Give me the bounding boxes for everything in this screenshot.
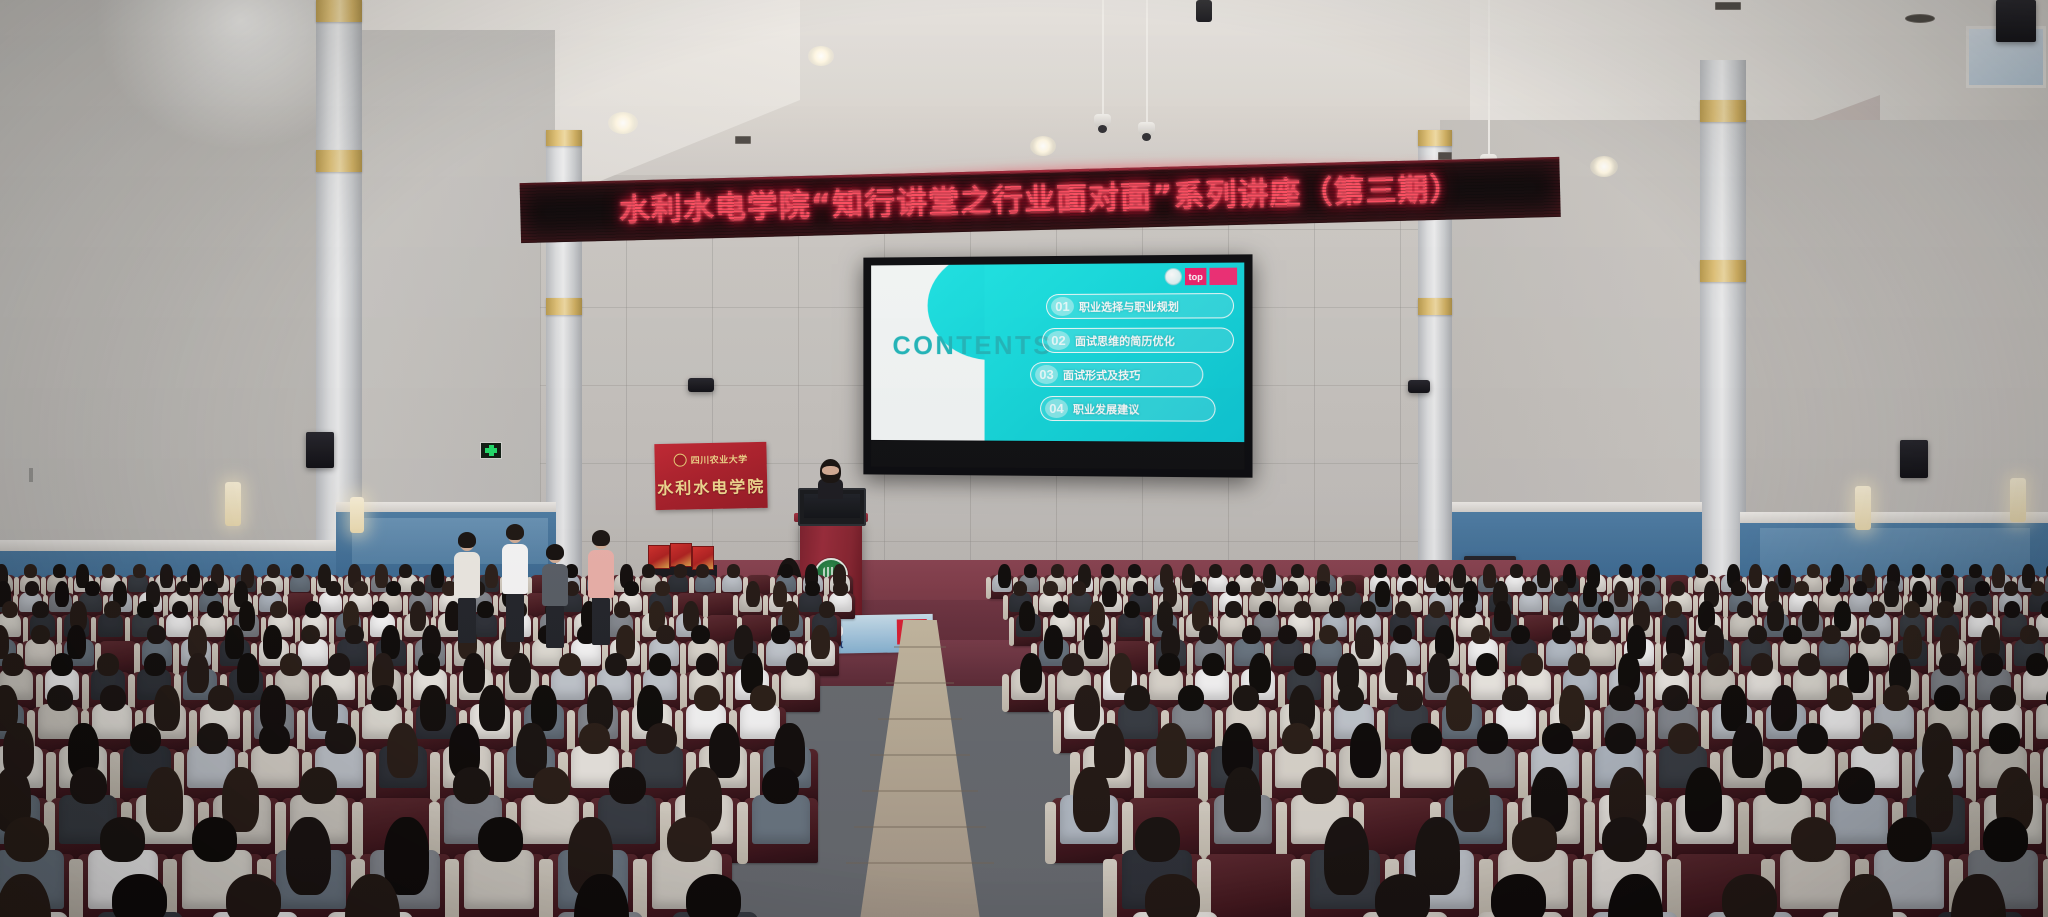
- audience-member-head: [1510, 564, 1523, 577]
- audience-member-head: [146, 767, 183, 832]
- aisle-step-edge: [862, 790, 978, 792]
- audience-member-head: [998, 564, 1011, 587]
- audience-member-head: [237, 653, 259, 693]
- audience-member-head: [1827, 685, 1853, 711]
- audience-member-head: [160, 564, 173, 587]
- audience-member-head: [1178, 685, 1204, 711]
- flag-university-name: 四川农业大学: [691, 452, 748, 466]
- brand-circle-logo-icon: [1165, 268, 1182, 285]
- audience-member-head: [696, 653, 718, 676]
- speaker-presenter: [815, 462, 845, 496]
- audience-member-head: [2031, 581, 2046, 596]
- aisle-step-edge: [878, 718, 962, 720]
- seat-frame: [1187, 643, 1193, 676]
- seat-frame: [1198, 752, 1208, 804]
- seat-frame: [2025, 710, 2033, 754]
- ptz-camera-icon[interactable]: [1196, 0, 1212, 22]
- standing-student: [500, 522, 530, 630]
- student-legs: [546, 606, 564, 647]
- audience-member-head: [605, 653, 627, 676]
- audience-member-head: [1124, 685, 1150, 711]
- ceiling-vent-icon: [735, 136, 751, 144]
- audience-member-head: [1491, 874, 1546, 917]
- audience-member-head: [1436, 581, 1451, 596]
- hanging-cable: [1146, 0, 1148, 126]
- audience-member-head: [1355, 625, 1374, 660]
- seat-frame: [1134, 752, 1144, 804]
- audience-member-head: [1583, 581, 1598, 607]
- audience-member-head: [1263, 564, 1276, 587]
- audience-member-head: [1554, 581, 1569, 596]
- audience-member-head: [479, 685, 505, 731]
- audience-member-head: [694, 685, 720, 711]
- loudspeaker-icon: [1996, 0, 2036, 42]
- seat-frame: [243, 710, 251, 754]
- audience-member-head: [226, 874, 281, 917]
- column-band: [546, 298, 582, 315]
- student-legs: [506, 594, 524, 643]
- seat-frame: [2043, 859, 2048, 917]
- slide-item-label: 面试思维的简历优化: [1075, 332, 1175, 348]
- audience-member-head: [1446, 685, 1472, 731]
- audience-member-head: [2020, 625, 2039, 645]
- audience-member-head: [1282, 723, 1313, 754]
- audience-member-head: [176, 581, 191, 596]
- audience-member-head: [207, 601, 224, 618]
- slide-item-number: 02: [1047, 331, 1070, 350]
- audience-member-head: [1981, 653, 2003, 676]
- audience-member-head: [1609, 685, 1635, 711]
- audience-member-head: [656, 625, 675, 645]
- audience-member-torso: [2036, 704, 2048, 739]
- seat-frame: [69, 859, 83, 917]
- audience-member-head: [786, 653, 808, 676]
- audience-member-head: [1259, 601, 1276, 618]
- dado-rail-left-inner: [336, 502, 556, 512]
- audience-member-head: [2004, 601, 2021, 618]
- audience-member-head: [1240, 564, 1253, 577]
- audience-member-head: [328, 653, 350, 676]
- audience-member-head: [104, 601, 121, 618]
- seat-frame: [633, 859, 647, 917]
- audience-member-head: [239, 601, 256, 631]
- seat-frame: [1694, 643, 1700, 676]
- seat-frame: [404, 674, 411, 712]
- audience-member-head: [1822, 625, 1841, 645]
- audience-member-head: [746, 581, 761, 607]
- audience-member-head: [811, 625, 830, 660]
- audience-member-head: [420, 685, 446, 731]
- audience-member-head: [1329, 601, 1346, 618]
- seat-frame: [539, 859, 553, 917]
- audience-member-head: [1251, 581, 1266, 596]
- seat-frame: [1269, 710, 1277, 754]
- student-hair: [458, 532, 476, 548]
- audience-member-head: [1937, 601, 1954, 618]
- audience-member-head: [1051, 564, 1064, 577]
- audience-member-head: [130, 723, 161, 754]
- audience-member-head: [2, 601, 19, 618]
- column-band: [1418, 298, 1452, 315]
- audience-member-head: [100, 817, 145, 861]
- audience-member-head: [1771, 685, 1797, 731]
- audience-member-head: [1737, 601, 1754, 618]
- column-band: [316, 0, 362, 22]
- audience-member-head: [1662, 653, 1684, 676]
- ceiling-downlight-icon: [608, 112, 638, 134]
- student-torso: [588, 550, 614, 598]
- audience-member-head: [1989, 723, 2020, 754]
- audience-member-head: [326, 581, 341, 596]
- audience-member-head: [1861, 625, 1880, 645]
- audience-member-head: [686, 874, 741, 917]
- audience-member-head: [1605, 723, 1636, 754]
- audience-member-head: [1225, 601, 1242, 618]
- audience-member-head: [642, 564, 655, 577]
- audience-member-head: [1883, 685, 1909, 711]
- audience-member-head: [1084, 625, 1103, 660]
- audience-member-head: [259, 723, 290, 754]
- audience-member-head: [463, 653, 485, 693]
- student-hair: [546, 544, 564, 560]
- audience-member-head: [208, 685, 234, 711]
- seat-frame: [1103, 859, 1117, 917]
- audience-member-head: [1053, 601, 1070, 618]
- audience-member-head: [533, 767, 570, 804]
- audience-member-head: [225, 625, 244, 660]
- audience-member-head: [1020, 653, 1042, 693]
- audience-member-head: [301, 625, 320, 645]
- audience-member-head: [371, 685, 397, 711]
- slide-logo-group: top: [1165, 268, 1237, 286]
- standing-student: [452, 530, 482, 630]
- audience-member-head: [1731, 581, 1746, 596]
- audience-member-head: [1749, 564, 1762, 587]
- audience-member-head: [1398, 564, 1411, 577]
- audience-member-head: [386, 581, 401, 596]
- ceiling-vent-icon: [1905, 14, 1935, 23]
- student-hair: [592, 530, 610, 546]
- audience-member-head: [1476, 653, 1498, 676]
- seat-frame: [1048, 674, 1055, 712]
- exit-cross-icon: [485, 445, 497, 456]
- standing-student: [540, 542, 570, 634]
- slide-heading: CONTENTS: [892, 330, 1053, 361]
- loudspeaker-icon: [688, 378, 714, 392]
- audience-member-head: [24, 564, 37, 577]
- audience-member-head: [833, 581, 848, 596]
- seat-frame: [1460, 643, 1466, 676]
- audience-member-head: [1707, 653, 1729, 676]
- seat-frame: [366, 752, 376, 804]
- audience-member-head: [1494, 601, 1511, 631]
- projection-screen-image: CONTENTS top 01 职业选择与职业规划 02 面试思维的简历优化 0…: [871, 262, 1244, 442]
- audience-member-head: [25, 581, 40, 596]
- audience-member-head: [1802, 601, 1819, 631]
- aisle-step-edge: [870, 754, 970, 756]
- seat-frame: [1323, 710, 1331, 754]
- aisle-step-edge: [894, 646, 946, 648]
- student-torso: [502, 544, 528, 594]
- loudspeaker-icon: [306, 432, 334, 468]
- audience-member-head: [762, 767, 799, 804]
- audience-member-head: [1283, 581, 1298, 596]
- audience-member-head: [399, 564, 412, 577]
- audience-member-head: [411, 581, 426, 596]
- audience-member-head: [1043, 581, 1058, 596]
- audience-member-head: [579, 723, 610, 754]
- audience-member-head: [32, 601, 49, 618]
- seat-frame: [297, 710, 305, 754]
- audience-member-head: [286, 817, 331, 895]
- seat-frame: [46, 752, 56, 804]
- audience-member-head: [1402, 581, 1417, 596]
- audience-member-head: [1791, 817, 1836, 861]
- seat-frame: [1971, 710, 1979, 754]
- audience-member-head: [1209, 564, 1222, 577]
- audience-member-head: [1397, 685, 1423, 711]
- audience-member-head: [1502, 685, 1528, 711]
- audience-member-head: [1838, 767, 1875, 804]
- audience-member-head: [172, 601, 189, 618]
- audience-member-head: [696, 564, 709, 577]
- seat-frame: [1045, 802, 1057, 864]
- audience-member-torso: [2043, 746, 2048, 788]
- audience-member-head: [1521, 653, 1543, 676]
- audience-member-head: [1641, 581, 1656, 596]
- audience-member-head: [353, 581, 368, 596]
- seat-frame: [1009, 617, 1014, 646]
- audience-member-head: [1395, 601, 1412, 618]
- audience-member-head: [4, 817, 49, 861]
- projection-screen[interactable]: CONTENTS top 01 职业选择与职业规划 02 面试思维的简历优化 0…: [863, 254, 1252, 477]
- college-flag-banner: 四川农业大学 水利水电学院: [654, 442, 767, 510]
- audience-member-head: [727, 564, 740, 577]
- seat-frame: [430, 752, 440, 804]
- audience-member-head: [1124, 601, 1141, 618]
- audience-member-head: [1101, 564, 1114, 577]
- audience-member-head: [1044, 625, 1063, 660]
- audience-member-head: [147, 625, 166, 645]
- audience-member-head: [509, 653, 531, 693]
- dado-rail-right: [1740, 512, 2048, 523]
- column-band: [546, 130, 582, 146]
- audience-member-head: [1291, 564, 1304, 577]
- audience-member-head: [1862, 723, 1893, 754]
- seat-frame: [1324, 674, 1331, 712]
- audience-member-head: [1665, 601, 1682, 618]
- audience-member-head: [1869, 601, 1886, 618]
- audience-member-head: [649, 653, 671, 676]
- audience-member-head: [187, 653, 209, 693]
- audience-member-head: [1884, 581, 1899, 607]
- audience-member-head: [261, 581, 276, 596]
- audience-member-head: [819, 601, 836, 618]
- seat-frame: [1582, 752, 1592, 804]
- audience-member-head: [1013, 581, 1028, 596]
- audience-member-head: [133, 564, 146, 577]
- audience-member-head: [1798, 653, 1820, 676]
- audience-member-head: [1471, 625, 1490, 645]
- audience-member-head: [100, 685, 126, 711]
- presenter-hair: [820, 459, 841, 483]
- seat-frame: [173, 643, 179, 676]
- audience-member-head: [97, 653, 119, 676]
- list-item: 02 面试思维的简历优化: [1042, 327, 1234, 353]
- audience-member-head: [1939, 653, 1961, 676]
- audience-member-head: [1748, 625, 1767, 645]
- audience-member-head: [771, 625, 790, 645]
- audience-member-head: [1904, 601, 1921, 618]
- audience-member-head: [70, 767, 107, 804]
- audience-member-head: [300, 767, 337, 804]
- seat-frame: [1573, 859, 1587, 917]
- audience-member-head: [270, 601, 287, 618]
- audience-member-head: [1642, 564, 1655, 577]
- audience-member-head: [1794, 581, 1809, 596]
- student-legs: [458, 598, 476, 643]
- audience-member-head: [1767, 601, 1784, 631]
- list-item: 04 职业发展建议: [1040, 396, 1216, 422]
- loudspeaker-icon: [1408, 380, 1430, 393]
- wall-lamp-bracket: [29, 468, 33, 482]
- audience-member-head: [144, 653, 166, 676]
- audience-member-head: [1522, 581, 1537, 596]
- audience-member-head: [1602, 817, 1647, 861]
- seat-frame: [445, 859, 459, 917]
- wall-lamp-icon: [350, 497, 364, 533]
- audience-member-head: [1477, 723, 1508, 754]
- flag-university-row: 四川农业大学: [655, 452, 767, 467]
- wall-lamp-icon: [2010, 478, 2026, 522]
- lecture-hall-photo: 水利水电学院“知行讲堂之行业面对面”系列讲座（第三期） CONTENTS top…: [0, 0, 2048, 917]
- audience-member-head: [1751, 653, 1773, 676]
- dome-camera-icon[interactable]: [1094, 114, 1111, 129]
- audience-member-head: [478, 817, 523, 861]
- audience-member-head: [203, 581, 218, 596]
- audience-member-head: [1202, 653, 1224, 676]
- audience-member-head: [1511, 625, 1530, 645]
- audience-member-head: [1024, 564, 1037, 577]
- audience-member-head: [1156, 723, 1187, 778]
- pink-logo-block: [1209, 268, 1237, 285]
- seat-frame: [1002, 674, 1009, 712]
- audience-member-head: [1992, 564, 2005, 587]
- audience-member-head: [47, 685, 73, 711]
- audience-member-head: [1242, 625, 1261, 645]
- audience-member-head: [1685, 767, 1722, 832]
- student-hair: [506, 524, 524, 540]
- audience-member-head: [192, 817, 237, 861]
- audience-member-head: [1102, 581, 1117, 607]
- ceiling-downlight-icon: [1590, 156, 1618, 177]
- audience-member-head: [1278, 625, 1297, 645]
- audience-member-head: [1934, 685, 1960, 711]
- audience-member-head: [112, 874, 167, 917]
- audience-member-head: [1393, 625, 1412, 645]
- audience-member-head: [1695, 564, 1708, 577]
- audience-member-head: [1128, 564, 1141, 577]
- audience-member-head: [1135, 817, 1180, 861]
- seat-frame: [737, 802, 749, 864]
- standing-student: [586, 528, 616, 632]
- aisle-step-edge: [886, 682, 954, 684]
- audience-member-head: [1847, 653, 1869, 693]
- top-logo: top: [1185, 268, 1206, 285]
- audience-member-head: [609, 767, 646, 804]
- audience-member-head: [2026, 653, 2048, 676]
- audience-member-head: [197, 723, 228, 754]
- audience-member-head: [154, 685, 180, 731]
- audience-member-head: [1887, 817, 1932, 861]
- wall-left-highlight: [0, 0, 330, 620]
- audience-member-head: [1568, 653, 1590, 676]
- seat-frame: [680, 643, 686, 676]
- audience-member-head: [1315, 581, 1330, 596]
- audience-member-head: [1428, 653, 1450, 693]
- audience-member-head: [1429, 601, 1446, 618]
- audience-member-head: [1671, 581, 1686, 596]
- audience-member-head: [1374, 564, 1387, 577]
- audience-member-head: [1411, 723, 1442, 754]
- audience-member-head: [1592, 625, 1611, 645]
- dado-rail-right-inner: [1452, 502, 1702, 512]
- audience-member-head: [1970, 601, 1987, 618]
- wall-lamp-icon: [225, 482, 241, 526]
- audience-member-head: [1975, 581, 1990, 596]
- audience-member-head: [1983, 817, 2028, 861]
- university-seal-icon: [674, 454, 687, 467]
- audience-member-head: [1019, 601, 1036, 631]
- seat-back: [1206, 854, 1296, 917]
- dome-camera-icon[interactable]: [1138, 122, 1155, 137]
- audience-member-head: [267, 564, 280, 577]
- list-item: 01 职业选择与职业规划: [1046, 293, 1234, 319]
- audience-member-head: [1199, 625, 1218, 645]
- audience-member-head: [1294, 653, 1316, 676]
- audience-member-head: [137, 601, 154, 618]
- audience-member-head: [1990, 685, 2016, 711]
- audience-member-head: [1853, 581, 1868, 596]
- ceiling-downlight-icon: [808, 46, 834, 66]
- audience-member-head: [1722, 874, 1777, 917]
- audience-member-head: [1074, 685, 1100, 731]
- audience-member-head: [1778, 564, 1791, 587]
- audience-member-head: [305, 601, 322, 618]
- audience-member-head: [750, 685, 776, 711]
- audience-member-head: [1912, 564, 1925, 577]
- audience-member-head: [1226, 581, 1241, 596]
- audience-member-head: [1537, 564, 1550, 587]
- audience-member-head: [1783, 625, 1802, 645]
- audience-member-head: [1073, 767, 1110, 832]
- audience-member-head: [1826, 581, 1841, 596]
- loudspeaker-icon: [1900, 440, 1928, 478]
- hanging-cable: [1102, 0, 1104, 118]
- audience-member-head: [2041, 601, 2048, 618]
- audience-member-head: [805, 581, 820, 596]
- audience-member-head: [780, 564, 793, 577]
- slide-item-number: 01: [1051, 297, 1074, 316]
- audience-member-head: [559, 653, 581, 676]
- audience-member-head: [51, 653, 73, 676]
- audience-member-head: [1459, 601, 1476, 618]
- audience-member-head: [1062, 653, 1084, 676]
- audience-member-head: [1662, 685, 1688, 711]
- audience-member-head: [1807, 564, 1820, 577]
- audience-member-head: [1512, 817, 1557, 861]
- audience-member-head: [1338, 685, 1364, 711]
